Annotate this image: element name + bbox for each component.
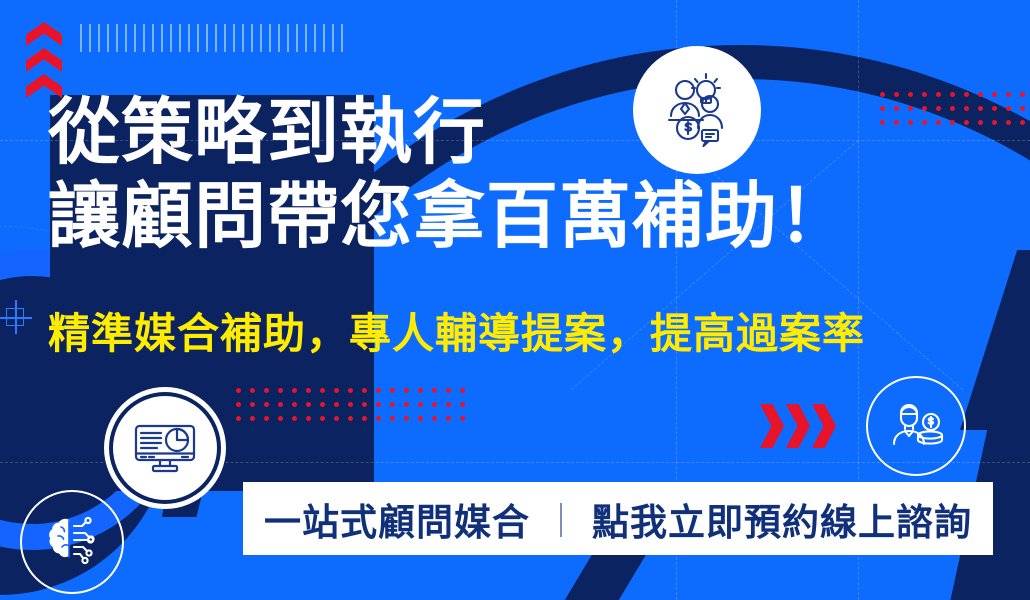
red-dot — [320, 388, 325, 393]
chevron-right-arrows — [760, 404, 836, 448]
chevron-up-icon — [26, 48, 62, 72]
red-dot — [992, 106, 997, 111]
tick-mark — [260, 24, 262, 52]
tick-mark — [224, 24, 226, 52]
red-dot — [334, 416, 339, 421]
tick-mark — [143, 24, 145, 52]
red-dot — [306, 416, 311, 421]
consultant-money-icon — [866, 376, 966, 476]
tick-mark — [116, 24, 118, 52]
tick-marks-row — [80, 24, 343, 52]
crosshair-icon — [0, 300, 32, 334]
red-dot — [460, 416, 465, 421]
red-dot — [432, 416, 437, 421]
tick-mark — [314, 24, 316, 52]
subheadline: 精準媒合補助，專人輔導提案，提高過案率 — [48, 300, 865, 361]
tick-mark — [242, 24, 244, 52]
red-dot — [432, 388, 437, 393]
red-dot — [432, 402, 437, 407]
red-dot — [250, 402, 255, 407]
cta-button[interactable]: 一站式顧問媒合 ｜ 點我立即預約線上諮詢 — [243, 482, 993, 555]
red-dot — [292, 416, 297, 421]
red-dot — [236, 402, 241, 407]
tick-mark — [188, 24, 190, 52]
red-dot — [348, 388, 353, 393]
headline-line-1: 從策略到執行 — [48, 93, 486, 173]
red-dot — [278, 388, 283, 393]
red-dot — [418, 416, 423, 421]
red-dot — [390, 416, 395, 421]
red-dot — [1006, 120, 1011, 125]
red-dot — [1006, 92, 1011, 97]
tick-mark — [332, 24, 334, 52]
tick-mark — [341, 24, 343, 52]
red-dot — [446, 416, 451, 421]
red-dot — [460, 388, 465, 393]
tick-mark — [305, 24, 307, 52]
tick-mark — [197, 24, 199, 52]
red-dot — [418, 388, 423, 393]
tick-mark — [323, 24, 325, 52]
red-dot — [376, 416, 381, 421]
dashboard-chart-icon — [113, 396, 217, 500]
red-dot — [362, 416, 367, 421]
cta-right-label: 點我立即預約線上諮詢 — [592, 492, 972, 546]
tick-mark — [296, 24, 298, 52]
red-dot — [334, 402, 339, 407]
red-dot — [292, 388, 297, 393]
tick-mark — [89, 24, 91, 52]
red-dot — [390, 388, 395, 393]
red-dot — [992, 92, 997, 97]
red-dot — [334, 388, 339, 393]
headline: 從策略到執行 讓顧問帶您拿百萬補助！ — [48, 92, 988, 259]
red-dot — [1020, 106, 1025, 111]
red-dot — [376, 402, 381, 407]
red-dot — [264, 416, 269, 421]
red-dot — [992, 120, 997, 125]
red-dot — [348, 416, 353, 421]
tick-mark — [215, 24, 217, 52]
red-dot — [264, 388, 269, 393]
red-dot — [362, 402, 367, 407]
red-dot — [404, 416, 409, 421]
red-dot — [404, 402, 409, 407]
red-dot — [236, 416, 241, 421]
chevron-right-icon — [786, 404, 810, 448]
tick-mark — [179, 24, 181, 52]
red-dot — [1020, 120, 1025, 125]
red-dot — [320, 402, 325, 407]
red-dot — [250, 388, 255, 393]
red-dot — [306, 388, 311, 393]
red-dot — [1020, 92, 1025, 97]
tick-mark — [134, 24, 136, 52]
chevron-up-icon — [26, 22, 62, 46]
red-dot — [390, 402, 395, 407]
red-dot — [446, 402, 451, 407]
tick-mark — [152, 24, 154, 52]
red-dot — [362, 388, 367, 393]
red-dot — [264, 402, 269, 407]
red-dot — [1006, 106, 1011, 111]
red-dot — [320, 416, 325, 421]
red-dot — [292, 402, 297, 407]
tick-mark — [98, 24, 100, 52]
tick-mark — [170, 24, 172, 52]
cta-separator: ｜ — [544, 494, 578, 543]
tick-mark — [107, 24, 109, 52]
tick-mark — [80, 24, 82, 52]
tick-mark — [251, 24, 253, 52]
chevron-right-icon — [760, 404, 784, 448]
headline-line-2: 讓顧問帶您拿百萬補助！ — [48, 176, 988, 260]
chevron-up-arrows — [26, 22, 62, 100]
promo-banner: 從策略到執行 讓顧問帶您拿百萬補助！ 精準媒合補助，專人輔導提案，提高過案率 一… — [0, 0, 1030, 600]
cta-left-label: 一站式顧問媒合 — [264, 492, 530, 546]
red-dot — [460, 402, 465, 407]
red-dot — [306, 402, 311, 407]
tick-mark — [233, 24, 235, 52]
tick-mark — [125, 24, 127, 52]
red-dot — [278, 416, 283, 421]
tick-mark — [269, 24, 271, 52]
tick-mark — [278, 24, 280, 52]
red-dot — [446, 388, 451, 393]
red-dot — [348, 402, 353, 407]
tick-mark — [161, 24, 163, 52]
red-dot — [250, 416, 255, 421]
red-dot — [418, 402, 423, 407]
red-dot — [236, 388, 241, 393]
ai-brain-circuit-icon — [20, 490, 124, 594]
red-dot — [278, 402, 283, 407]
tick-mark — [206, 24, 208, 52]
red-dot — [404, 388, 409, 393]
chevron-right-icon — [812, 404, 836, 448]
red-dot — [376, 388, 381, 393]
tick-mark — [287, 24, 289, 52]
red-dot-grid-mid-left — [236, 388, 465, 421]
